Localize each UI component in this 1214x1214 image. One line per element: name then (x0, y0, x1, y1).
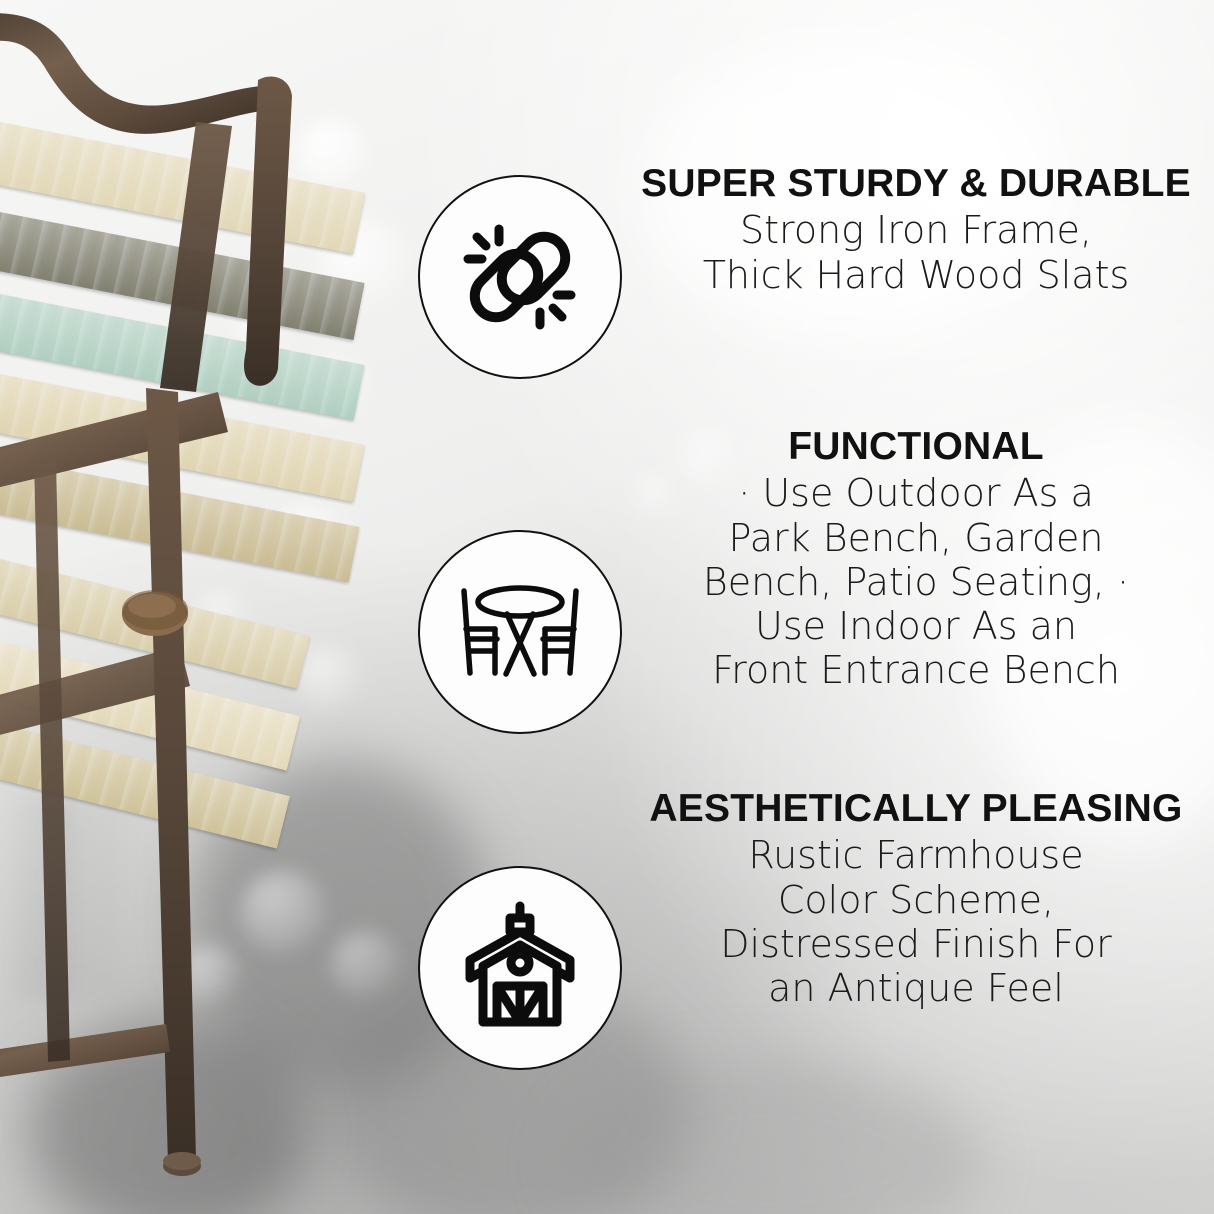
feature-copy-durability: SUPER STURDY & DURABLE Strong Iron Frame… (636, 162, 1196, 297)
feature-title-aesthetics: AESTHETICALLY PLEASING (636, 787, 1196, 831)
feature-title-line: PLEASING (982, 787, 1183, 830)
feature-list: SUPER STURDY & DURABLE Strong Iron Frame… (400, 0, 1214, 1214)
feature-body-line: Bench, Patio Seating, · (636, 560, 1196, 604)
feature-body-aesthetics: Rustic Farmhouse Color Scheme, Distresse… (636, 833, 1196, 1009)
feature-body-functional: · Use Outdoor As a Park Bench, Garden Be… (636, 471, 1196, 691)
feature-body-line: Strong Iron Frame, (636, 208, 1196, 252)
feature-title-functional: FUNCTIONAL (636, 425, 1196, 469)
barn-icon (455, 900, 585, 1036)
feature-title-line: FUNCTIONAL (788, 425, 1043, 468)
spark-rays-lower-right (540, 295, 571, 325)
product-photo-bench (0, 0, 400, 1214)
feature-title-line: SUPER STURDY & (641, 162, 988, 205)
feature-body-line: an Antique Feel (636, 966, 1196, 1010)
feature-body-durability: Strong Iron Frame, Thick Hard Wood Slats (636, 208, 1196, 296)
feature-body-line: Distressed Finish For (636, 922, 1196, 966)
spark-rays-upper-left (468, 229, 499, 259)
broken-chain-link-icon (452, 209, 588, 345)
feature-body-line: Rustic Farmhouse (636, 833, 1196, 877)
bench-crest-rail (0, 13, 268, 134)
bench-iron-frame-svg (0, 0, 400, 1214)
bench-bottom-stretcher (0, 1024, 170, 1080)
feature-body-line: Front Entrance Bench (636, 648, 1196, 692)
feature-body-line: Thick Hard Wood Slats (636, 253, 1196, 297)
feature-title-line: DURABLE (999, 162, 1191, 205)
bench-back-brace (160, 122, 232, 392)
barn-loft-window (511, 954, 529, 972)
feature-body-line: · Use Outdoor As a (636, 471, 1196, 515)
feature-icon-badge-aesthetics (418, 866, 622, 1070)
feature-copy-functional: FUNCTIONAL · Use Outdoor As a Park Bench… (636, 425, 1196, 692)
bench-seat-front-rail (0, 392, 228, 492)
feature-body-line: Use Indoor As an (636, 604, 1196, 648)
feature-body-line: Color Scheme, (636, 878, 1196, 922)
feature-body-line: Park Bench, Garden (636, 516, 1196, 560)
bistro-table-and-chairs-icon (448, 567, 592, 697)
feature-icon-badge-durability (418, 175, 622, 379)
bench-rear-leg (34, 460, 70, 1062)
feature-icon-badge-functional (418, 530, 622, 734)
feature-title-line: AESTHETICALLY (649, 787, 970, 830)
bench-back-post (244, 77, 292, 386)
feature-title-durability: SUPER STURDY & DURABLE (636, 162, 1196, 206)
feature-copy-aesthetics: AESTHETICALLY PLEASING Rustic Farmhouse … (636, 787, 1196, 1010)
product-feature-infographic: SUPER STURDY & DURABLE Strong Iron Frame… (0, 0, 1214, 1214)
